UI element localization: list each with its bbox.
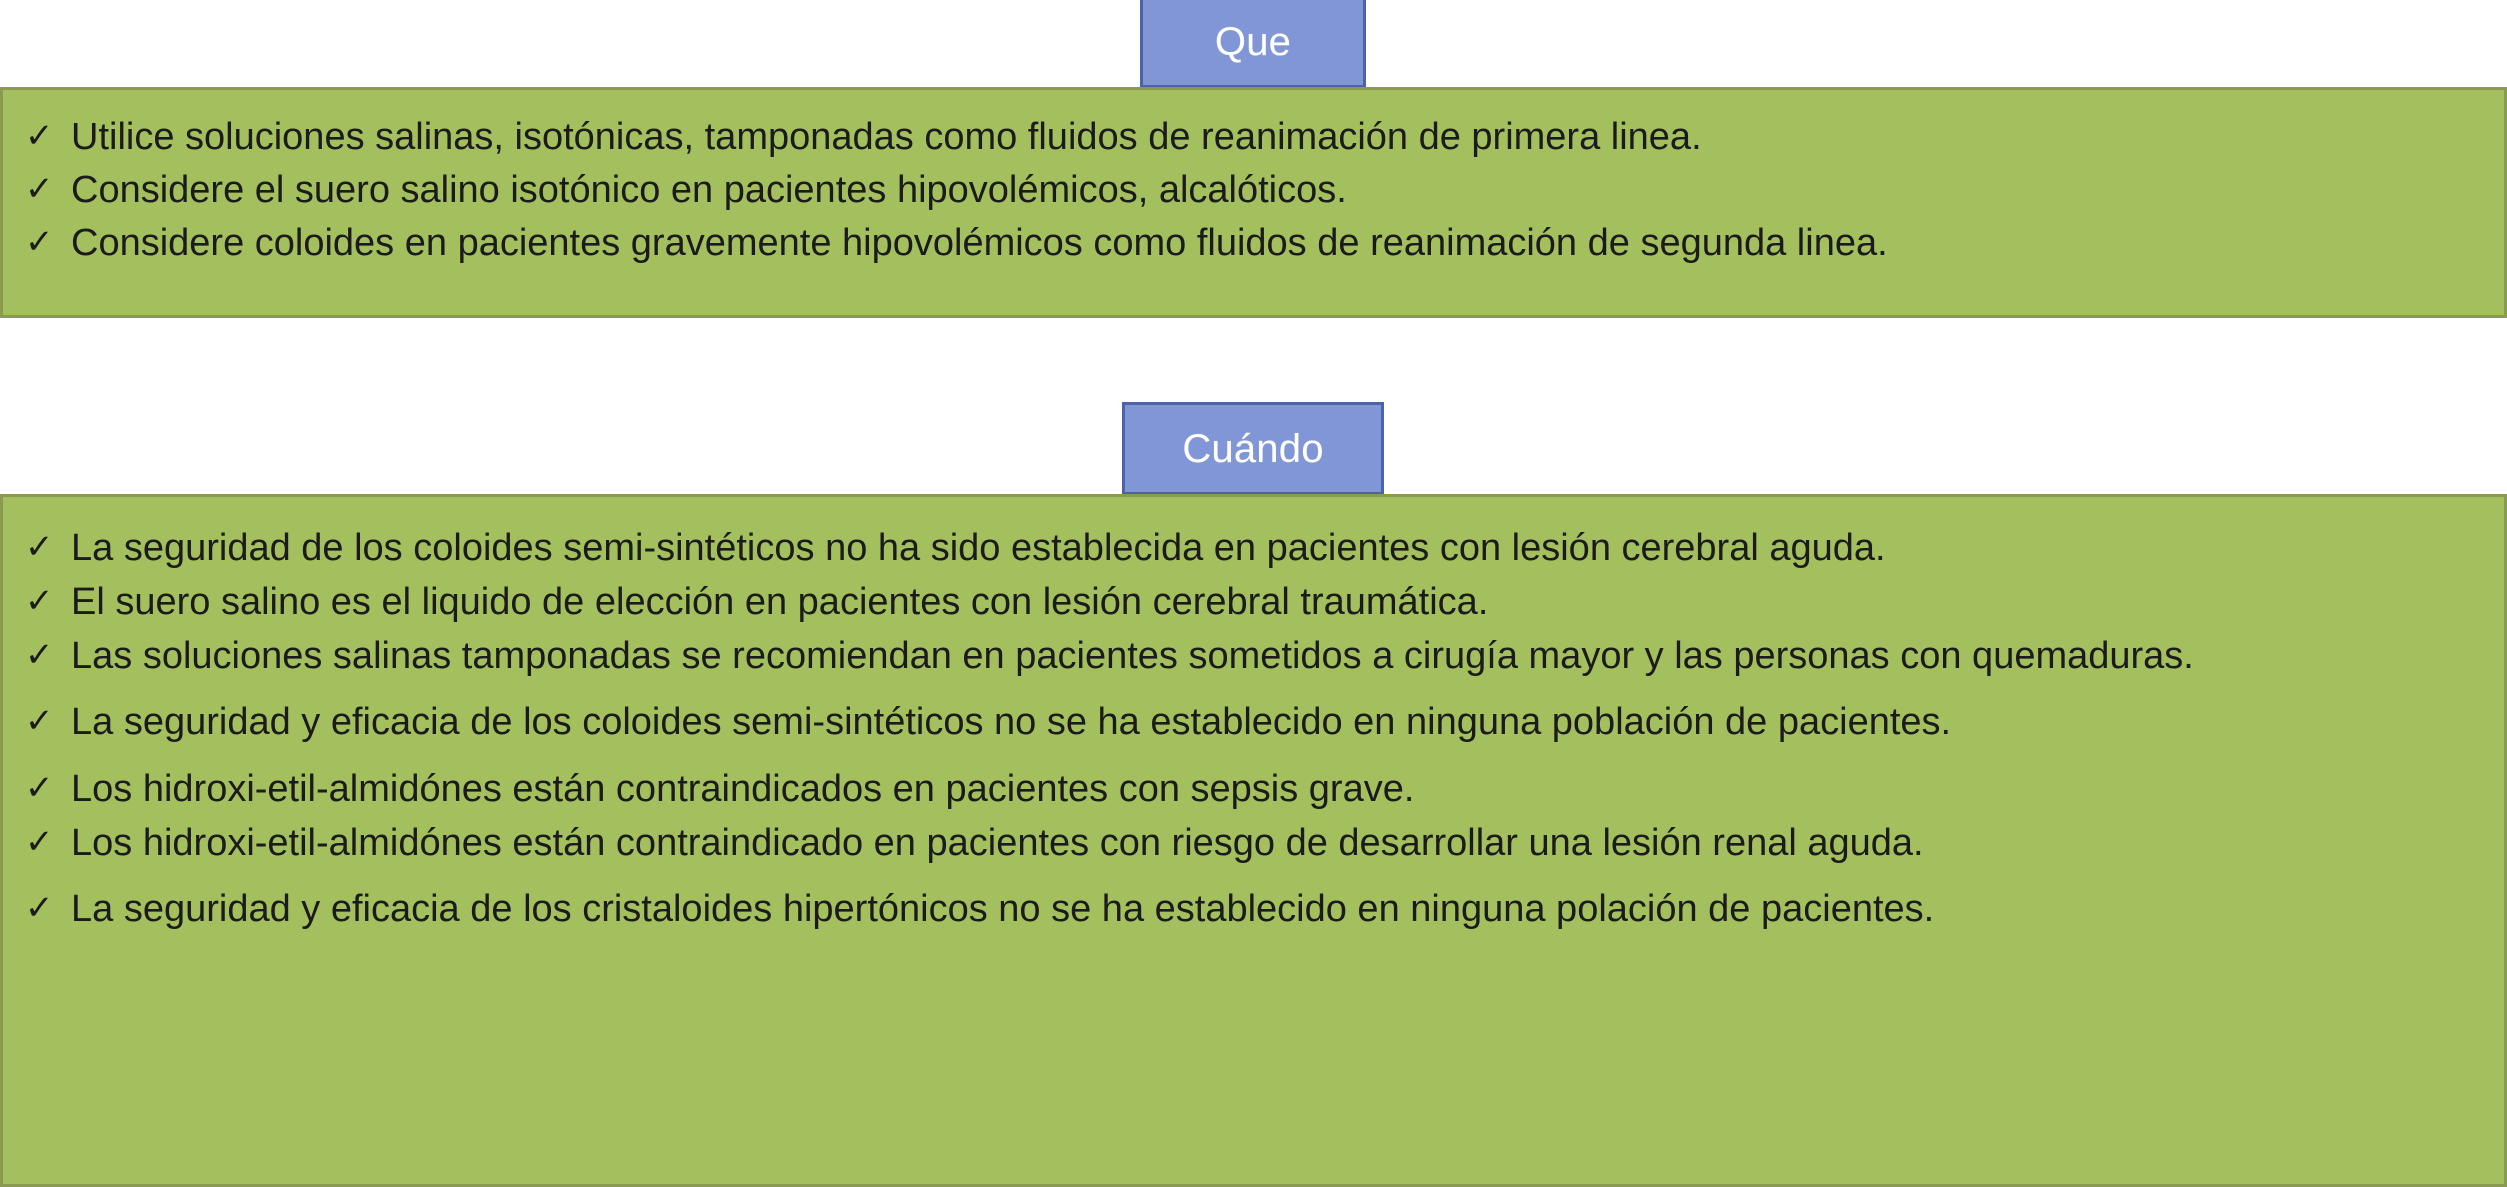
list-item: ✓ La seguridad y eficacia de los cristal…	[17, 884, 2490, 934]
list-item: ✓ Las soluciones salinas tamponadas se r…	[17, 631, 2490, 681]
list-item: ✓ Los hidroxi-etil-almidónes están contr…	[17, 764, 2490, 814]
list-item: ✓ El suero salino es el liquido de elecc…	[17, 577, 2490, 627]
list-item-text: La seguridad de los coloides semi-sintét…	[71, 523, 2421, 573]
section-panel-cuando: ✓ La seguridad de los coloides semi-sint…	[0, 494, 2507, 1187]
check-mark-icon: ✓	[17, 884, 71, 932]
section-panel-que: ✓ Utilice soluciones salinas, isotónicas…	[0, 87, 2507, 318]
list-item-text: Considere el suero salino isotónico en p…	[71, 165, 2421, 215]
check-mark-icon: ✓	[17, 764, 71, 812]
slide-canvas: Que ✓ Utilice soluciones salinas, isotón…	[0, 0, 2507, 1187]
check-mark-icon: ✓	[17, 697, 71, 745]
list-item-text: Los hidroxi-etil-almidónes están contrai…	[71, 818, 2421, 868]
list-item: ✓ La seguridad de los coloides semi-sint…	[17, 523, 2490, 573]
bullet-list-que: ✓ Utilice soluciones salinas, isotónicas…	[17, 112, 2490, 268]
list-item-text: Las soluciones salinas tamponadas se rec…	[71, 631, 2421, 681]
list-item-text: Considere coloides en pacientes gravemen…	[71, 218, 2421, 268]
check-mark-icon: ✓	[17, 577, 71, 625]
list-item-text: La seguridad y eficacia de los coloides …	[71, 697, 2421, 747]
section-tab-cuando-label: Cuándo	[1182, 429, 1323, 469]
list-item-text: El suero salino es el liquido de elecció…	[71, 577, 2421, 627]
section-tab-que: Que	[1140, 0, 1366, 88]
check-mark-icon: ✓	[17, 631, 71, 679]
check-mark-icon: ✓	[17, 818, 71, 866]
check-mark-icon: ✓	[17, 218, 71, 266]
section-tab-que-label: Que	[1215, 22, 1291, 62]
list-item: ✓ Utilice soluciones salinas, isotónicas…	[17, 112, 2490, 162]
list-item: ✓ Considere coloides en pacientes gravem…	[17, 218, 2490, 268]
list-item: ✓ La seguridad y eficacia de los coloide…	[17, 697, 2490, 747]
bullet-list-cuando: ✓ La seguridad de los coloides semi-sint…	[17, 523, 2490, 934]
list-item: ✓ Los hidroxi-etil-almidónes están contr…	[17, 818, 2490, 868]
check-mark-icon: ✓	[17, 112, 71, 160]
section-tab-cuando: Cuándo	[1122, 402, 1384, 495]
list-item-text: Los hidroxi-etil-almidónes están contrai…	[71, 764, 2421, 814]
check-mark-icon: ✓	[17, 523, 71, 571]
list-item: ✓ Considere el suero salino isotónico en…	[17, 165, 2490, 215]
list-item-text: Utilice soluciones salinas, isotónicas, …	[71, 112, 2421, 162]
list-item-text: La seguridad y eficacia de los cristaloi…	[71, 884, 2421, 934]
check-mark-icon: ✓	[17, 165, 71, 213]
